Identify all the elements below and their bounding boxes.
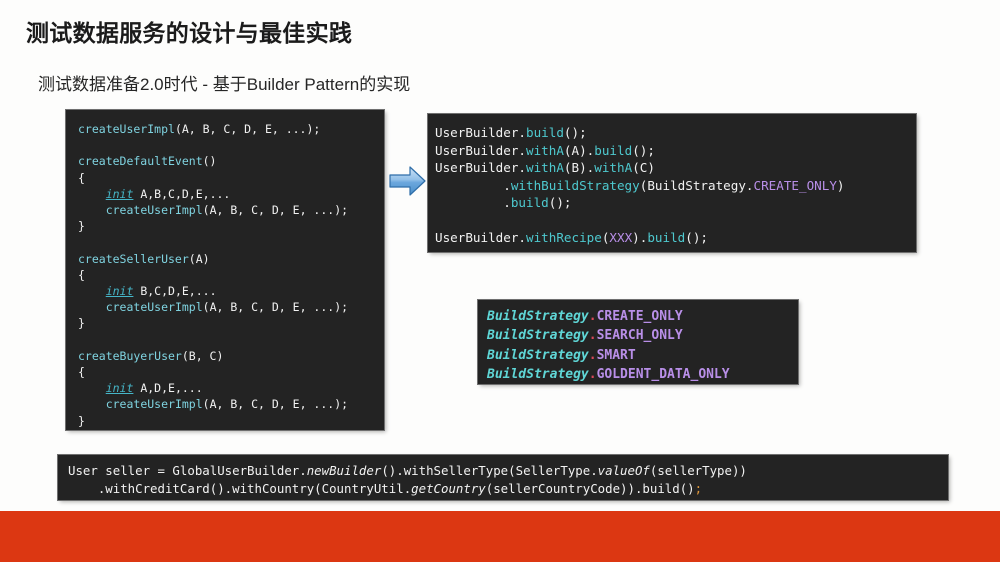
code-line: createBuyerUser(B, C) <box>78 348 384 364</box>
code-line: } <box>78 413 384 429</box>
method-name-token: withA <box>594 160 632 175</box>
code-line: init B,C,D,E,... <box>78 283 384 299</box>
method-name-token: withA <box>526 143 564 158</box>
function-name-token: createUserImpl <box>78 122 175 136</box>
code-line: BuildStrategy.GOLDENT_DATA_ONLY <box>487 365 798 384</box>
brace-token: { <box>78 268 85 282</box>
code-line: BuildStrategy.CREATE_ONLY <box>487 307 798 326</box>
code-line: createUserImpl(A, B, C, D, E, ...); <box>78 202 384 218</box>
punct-token: . <box>746 178 754 193</box>
punct-token: . <box>518 143 526 158</box>
code-line-blank <box>78 137 384 153</box>
punct-token: ). <box>632 230 647 245</box>
presentation-slide: 测试数据服务的设计与最佳实践 测试数据准备2.0时代 - 基于Builder P… <box>0 0 1000 562</box>
code-line: } <box>78 315 384 331</box>
brace-token: } <box>78 414 85 428</box>
code-line: UserBuilder.withA(B).withA(C) <box>435 159 916 177</box>
punct-token: . <box>589 367 597 382</box>
indent-token <box>78 381 106 395</box>
function-name-token: createUserImpl <box>106 300 203 314</box>
class-name-token: UserBuilder <box>435 125 518 140</box>
class-name-token: UserBuilder <box>435 160 518 175</box>
code-line: User seller = GlobalUserBuilder.newBuild… <box>68 462 948 480</box>
constant-token: SEARCH_ONLY <box>597 328 683 343</box>
keyword-init-token: init <box>106 187 134 201</box>
code-line: createUserImpl(A, B, C, D, E, ...); <box>78 396 384 412</box>
code-line-blank <box>435 212 916 230</box>
function-name-token: createUserImpl <box>106 397 203 411</box>
code-line: init A,D,E,... <box>78 380 384 396</box>
legacy-implementation-code-panel: createUserImpl(A, B, C, D, E, ...); crea… <box>66 110 384 430</box>
type-name-token: BuildStrategy <box>647 178 746 193</box>
code-line: UserBuilder.withRecipe(XXX).build(); <box>435 229 916 247</box>
code-line: createDefaultEvent() <box>78 153 384 169</box>
arguments-token: (A, B, C, D, E, ...); <box>203 300 348 314</box>
code-line: UserBuilder.build(); <box>435 124 916 142</box>
code-tail-token: (sellerCountryCode)).build() <box>486 481 695 496</box>
keyword-init-token: init <box>106 381 134 395</box>
arguments-token: (A, B, C, D, E, ...); <box>203 397 348 411</box>
constant-token: SMART <box>597 348 636 363</box>
global-builder-example-panel: User seller = GlobalUserBuilder.newBuild… <box>58 455 948 500</box>
code-line: .build(); <box>435 194 916 212</box>
arguments-token: (A) <box>189 252 210 266</box>
method-name-token: withRecipe <box>526 230 602 245</box>
punct-token: . <box>589 348 597 363</box>
code-line: createSellerUser(A) <box>78 251 384 267</box>
indent-token <box>78 397 106 411</box>
punct-token: ) <box>837 178 845 193</box>
page-title: 测试数据服务的设计与最佳实践 <box>26 14 352 48</box>
code-line-blank <box>78 234 384 250</box>
brace-token: } <box>78 316 85 330</box>
punct-token: (); <box>685 230 708 245</box>
code-line: { <box>78 170 384 186</box>
punct-token: (); <box>632 143 655 158</box>
brace-token: { <box>78 171 85 185</box>
indent-token <box>78 284 106 298</box>
method-name-token: build <box>511 195 549 210</box>
method-name-token: build <box>594 143 632 158</box>
method-name-token: build <box>647 230 685 245</box>
code-line: createUserImpl(A, B, C, D, E, ...); <box>78 299 384 315</box>
method-name-token: withBuildStrategy <box>511 178 640 193</box>
page-subtitle: 测试数据准备2.0时代 - 基于Builder Pattern的实现 <box>38 70 410 95</box>
arguments-token: (B, C) <box>182 349 224 363</box>
punct-token: . <box>518 125 526 140</box>
type-name-token: BuildStrategy <box>487 328 589 343</box>
brace-token: } <box>78 219 85 233</box>
code-line: createUserImpl(A, B, C, D, E, ...); <box>78 121 384 137</box>
punct-token: (); <box>549 195 572 210</box>
punct-token: . <box>518 230 526 245</box>
class-name-token: UserBuilder <box>435 230 518 245</box>
indent-token <box>78 203 106 217</box>
function-name-token: createDefaultEvent <box>78 154 203 168</box>
init-args-token: A,B,C,D,E,... <box>133 187 230 201</box>
method-name-token: getCountry <box>411 481 486 496</box>
punct-token: . <box>589 328 597 343</box>
type-name-token: BuildStrategy <box>487 367 589 382</box>
footer-accent-band <box>0 511 1000 562</box>
code-line: init A,B,C,D,E,... <box>78 186 384 202</box>
code-lead-token: User seller = GlobalUserBuilder. <box>68 463 307 478</box>
arguments-token: () <box>203 154 217 168</box>
right-arrow-icon <box>389 164 427 198</box>
builder-usage-code-panel: UserBuilder.build(); UserBuilder.withA(A… <box>428 114 916 252</box>
code-line: BuildStrategy.SEARCH_ONLY <box>487 326 798 345</box>
constant-token: CREATE_ONLY <box>754 178 837 193</box>
punct-token: (B). <box>564 160 594 175</box>
function-name-token: createSellerUser <box>78 252 189 266</box>
constant-token: CREATE_ONLY <box>597 309 683 324</box>
indent-token: . <box>435 178 511 193</box>
class-name-token: UserBuilder <box>435 143 518 158</box>
punct-token: (A). <box>564 143 594 158</box>
arguments-token: (A, B, C, D, E, ...); <box>203 203 348 217</box>
code-line: BuildStrategy.SMART <box>487 346 798 365</box>
code-line: .withBuildStrategy(BuildStrategy.CREATE_… <box>435 177 916 195</box>
method-name-token: valueOf <box>598 463 650 478</box>
code-line: UserBuilder.withA(A).build(); <box>435 142 916 160</box>
build-strategy-enum-panel: BuildStrategy.CREATE_ONLY BuildStrategy.… <box>478 300 798 384</box>
function-name-token: createBuyerUser <box>78 349 182 363</box>
init-args-token: B,C,D,E,... <box>133 284 216 298</box>
punct-token: . <box>589 309 597 324</box>
type-name-token: BuildStrategy <box>487 348 589 363</box>
method-name-token: build <box>526 125 564 140</box>
brace-token: { <box>78 365 85 379</box>
code-tail-token: (sellerType)) <box>650 463 747 478</box>
code-line: .withCreditCard().withCountry(CountryUti… <box>68 480 948 498</box>
indent-token <box>78 300 106 314</box>
method-name-token: newBuilder <box>307 463 382 478</box>
indent-token <box>78 187 106 201</box>
code-lead-token: .withCreditCard().withCountry(CountryUti… <box>68 481 411 496</box>
code-mid-token: ().withSellerType(SellerType. <box>381 463 597 478</box>
method-name-token: withA <box>526 160 564 175</box>
code-line: { <box>78 364 384 380</box>
code-line: { <box>78 267 384 283</box>
type-name-token: BuildStrategy <box>487 309 589 324</box>
indent-token: . <box>435 195 511 210</box>
code-line-blank <box>78 332 384 348</box>
punct-token: . <box>518 160 526 175</box>
constant-token: XXX <box>609 230 632 245</box>
punct-token: ; <box>695 481 702 496</box>
init-args-token: A,D,E,... <box>133 381 202 395</box>
keyword-init-token: init <box>106 284 134 298</box>
constant-token: GOLDENT_DATA_ONLY <box>597 367 730 382</box>
arguments-token: (A, B, C, D, E, ...); <box>175 122 320 136</box>
code-line: } <box>78 218 384 234</box>
function-name-token: createUserImpl <box>106 203 203 217</box>
punct-token: (); <box>564 125 587 140</box>
punct-token: (C) <box>632 160 655 175</box>
